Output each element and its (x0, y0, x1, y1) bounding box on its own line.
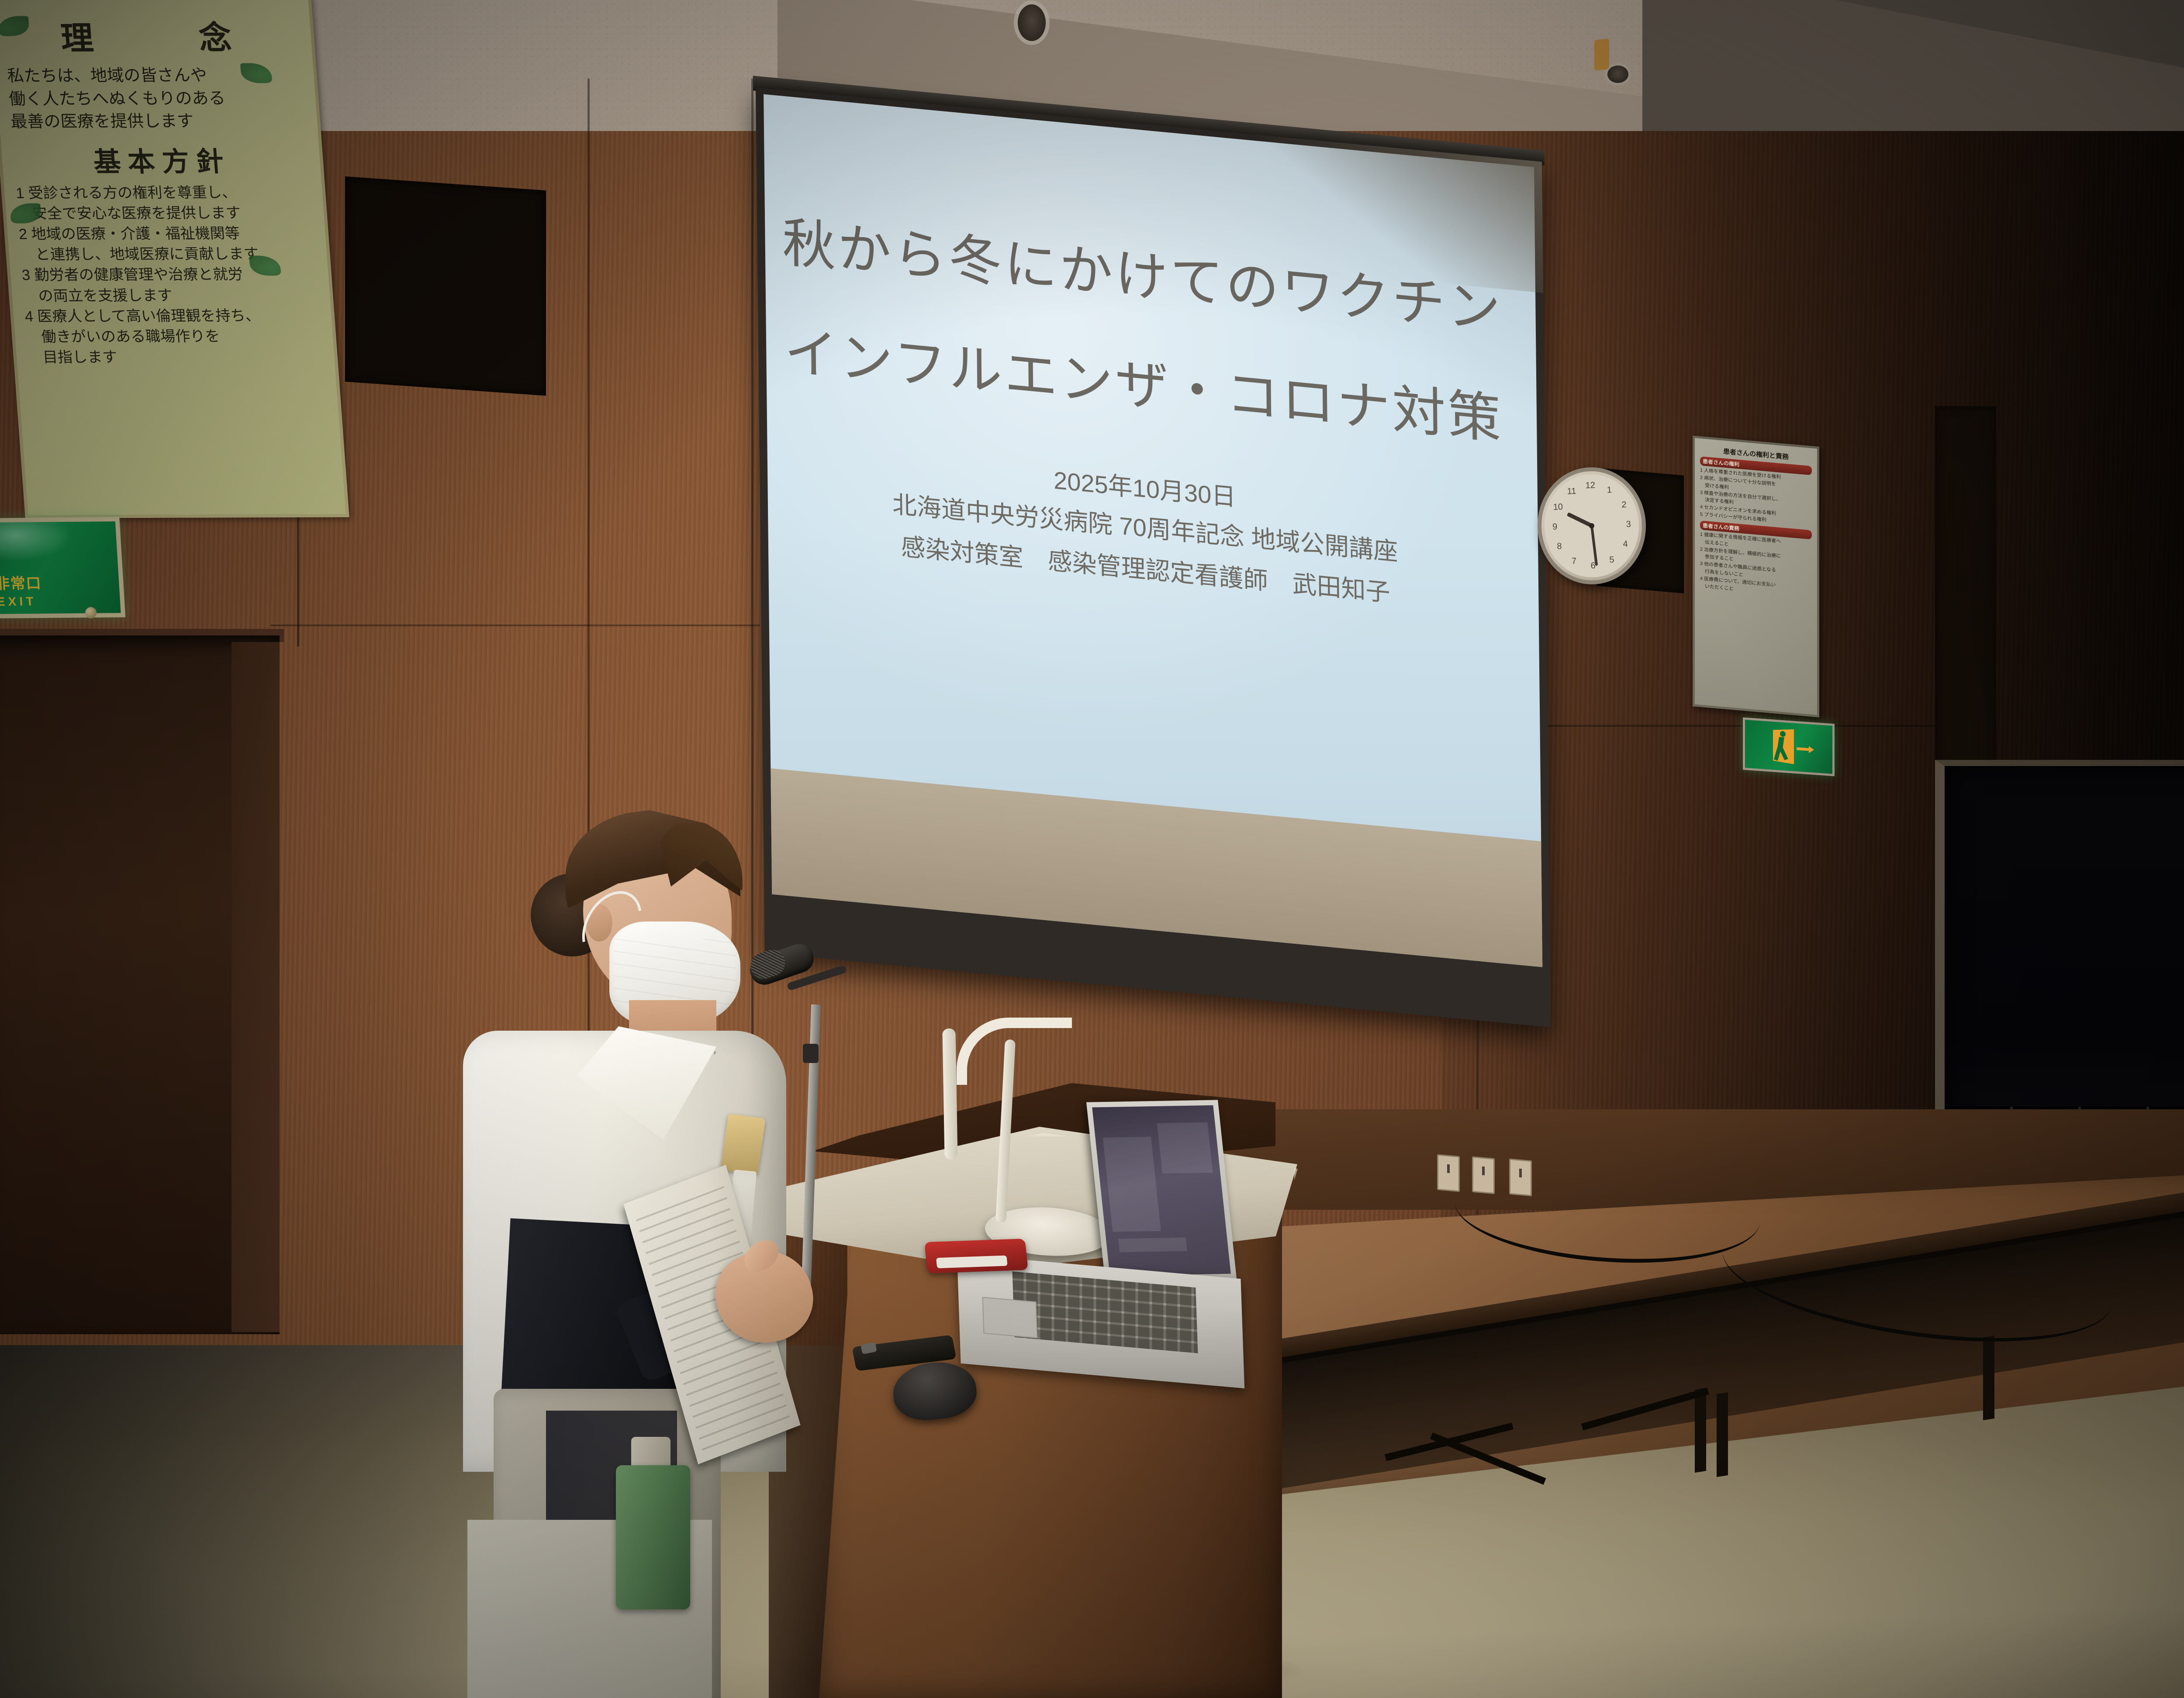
laptop-display (1092, 1105, 1231, 1276)
clock-minute-hand (1590, 526, 1598, 566)
patient-rights-poster: 患者さんの権利と責務 患者さんの権利 1 人格を尊重された医療を受ける権利 2 … (1693, 435, 1819, 717)
exit-sign-label-jp: 非常口 (0, 571, 42, 593)
hand-sanitizer-bottle (616, 1465, 690, 1609)
clock-numeral: 4 (1623, 539, 1628, 549)
exit-arrow-icon (1797, 745, 1814, 753)
presenter-id-badge (720, 1114, 765, 1175)
window (1935, 760, 2184, 1159)
wall-dark-column (1935, 406, 1996, 799)
clock-numeral: 9 (1552, 522, 1558, 532)
stage-leg (1717, 1392, 1728, 1477)
stage-leg (1983, 1336, 1994, 1420)
stage-leg (1695, 1388, 1706, 1473)
list-item: 安全で安心な医療を提供します (17, 203, 315, 223)
running-man-exit-icon (1775, 731, 1790, 762)
clock-numeral: 7 (1572, 556, 1577, 566)
clock-numeral: 3 (1626, 519, 1631, 529)
clock-numeral: 2 (1621, 500, 1627, 510)
ceiling-indicator-light (1594, 38, 1609, 71)
exit-sign-label-en: EXIT (0, 594, 37, 609)
laptop-screen[interactable] (1086, 1100, 1237, 1289)
poster-policy-list: 1 受診される方の権利を尊重し、 安全で安心な医療を提供します 2 地域の医療・… (15, 183, 326, 367)
list-item: 1 受診される方の権利を尊重し、 (15, 183, 314, 203)
exit-sign-right (1743, 718, 1835, 777)
wall-panel-seam (271, 625, 760, 626)
clock-numeral: 12 (1585, 480, 1595, 491)
hospital-philosophy-poster: 理 念 私たちは、地域の皆さんや 働く人たちへぬくもりのある 最善の医療を提供し… (0, 0, 349, 518)
lecture-hall-photo: 理 念 私たちは、地域の皆さんや 働く人たちへぬくもりのある 最善の医療を提供し… (0, 0, 2184, 1698)
clock-numeral: 10 (1553, 502, 1563, 513)
list-item: 目指します (27, 347, 325, 367)
clock-numeral: 1 (1607, 485, 1612, 495)
clock-numeral: 11 (1567, 486, 1576, 497)
screen-corner-shadow (1262, 135, 1543, 293)
poster-heading-philosophy: 理 念 (3, 11, 303, 59)
wall-outlet[interactable] (1437, 1154, 1460, 1192)
podium-lamp-head[interactable] (942, 1028, 957, 1160)
sign-glare (0, 517, 74, 562)
clock-center-pin (1589, 523, 1594, 528)
clock-numeral: 5 (1609, 555, 1614, 565)
exit-sign-left: 非常口 EXIT (0, 517, 125, 618)
list-item: 働きがいのある職場作りを (26, 326, 324, 346)
list-item: 2 地域の医療・介護・福祉機関等 (18, 224, 317, 244)
door-leaf[interactable] (232, 642, 280, 1332)
microphone-joint[interactable] (803, 1044, 819, 1063)
ceiling-downlight-icon (1018, 4, 1046, 41)
projection-screen: 秋から冬にかけてのワクチン インフルエンザ・コロナ対策 2025年10月30日 … (756, 87, 1551, 1027)
list-item: 4 医療人として高い倫理観を持ち、 (24, 306, 322, 326)
clock-numeral: 8 (1557, 542, 1562, 552)
list-item: の両立を支援します (23, 285, 321, 305)
clock-face: 12 1 2 3 4 5 6 7 8 9 10 11 (1543, 473, 1641, 579)
laptop-trackpad[interactable] (982, 1297, 1038, 1338)
poster-heading-policy: 基本方針 (12, 139, 311, 179)
wall-inset-panel (345, 176, 546, 396)
door-knob-icon[interactable] (85, 607, 97, 618)
red-stapler[interactable] (924, 1239, 1028, 1273)
ceiling-downlight-icon (1607, 66, 1628, 83)
